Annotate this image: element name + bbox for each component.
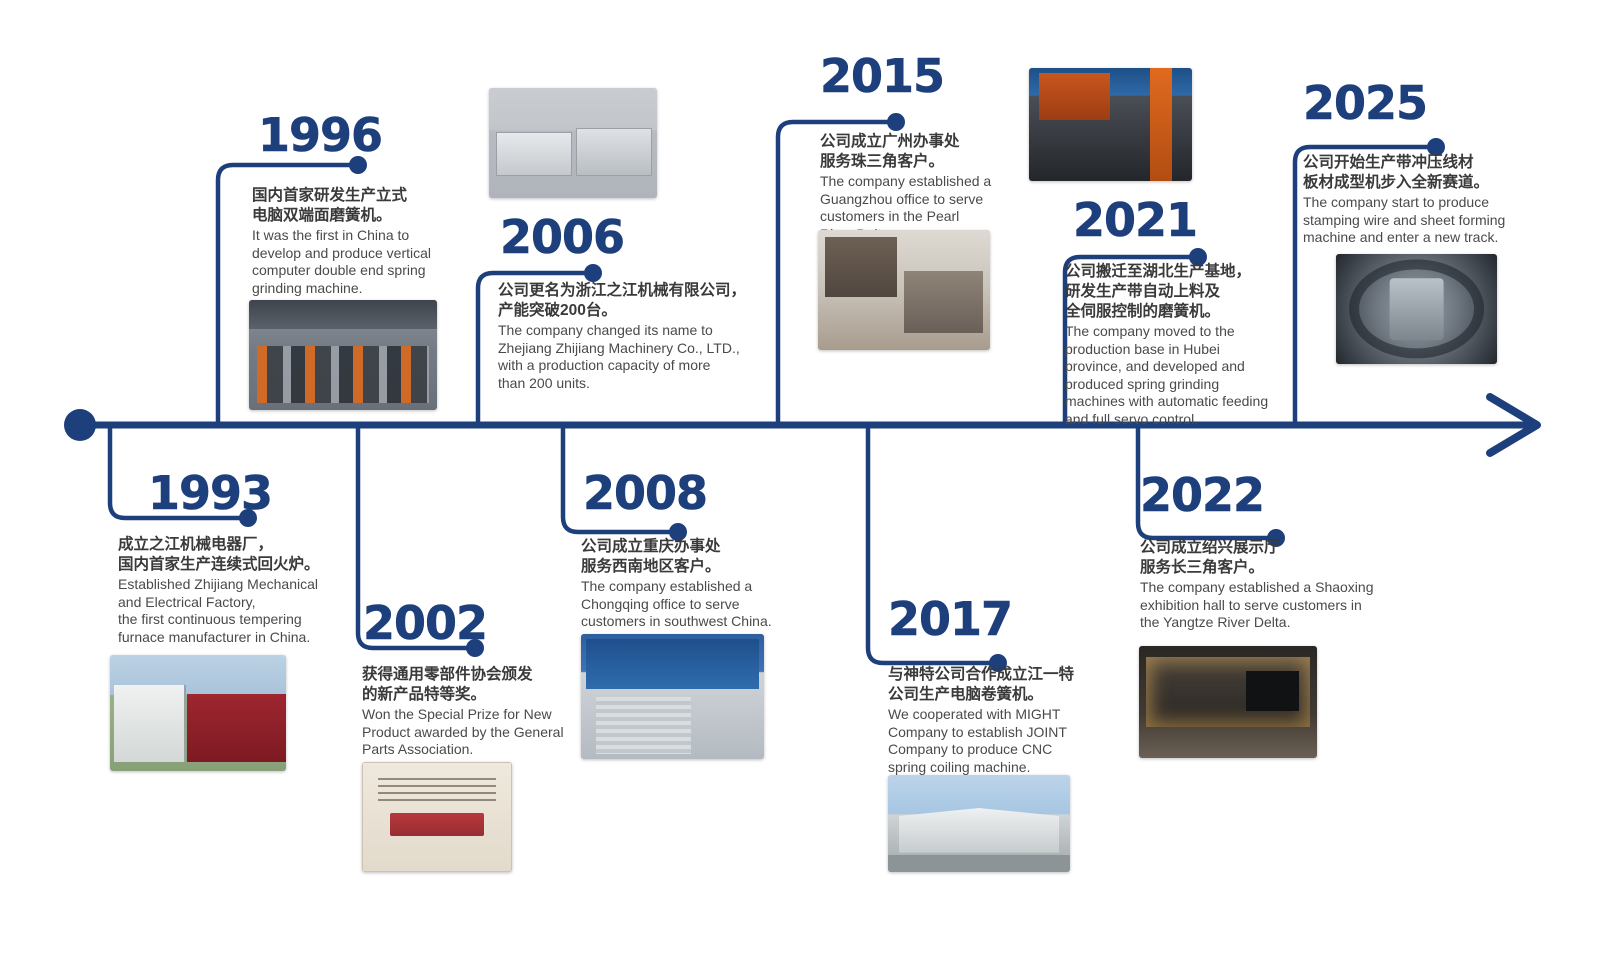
milestone-2015[interactable]: 2015 xyxy=(820,53,1035,99)
milestone-1993-text: 成立之江机械电器厂， 国内首家生产连续式回火炉。 Established Zhi… xyxy=(118,535,350,646)
cnc-forming-machine-head-photo xyxy=(1336,254,1497,364)
milestone-cn-2017: 与神特公司合作成立江一特 公司生产电脑卷簧机。 xyxy=(888,665,1093,705)
node-dot-2006 xyxy=(584,264,602,282)
milestone-2002[interactable]: 2002 xyxy=(363,600,578,646)
milestone-2008-text: 公司成立重庆办事处 服务西南地区客户。 The company establis… xyxy=(581,537,813,631)
milestone-en-2021: The company moved to the production base… xyxy=(1065,323,1283,428)
year-label-2021: 2021 xyxy=(1073,197,1288,243)
old-factory-gate-photo xyxy=(110,655,286,771)
milestone-cn-2022: 公司成立绍兴展示厅 服务长三角客户。 xyxy=(1140,538,1390,578)
year-label-2002: 2002 xyxy=(363,600,578,646)
milestone-2002-text: 获得通用零部件协会颁发 的新产品特等奖。 Won the Special Pri… xyxy=(362,665,584,759)
year-label-2015: 2015 xyxy=(820,53,1035,99)
milestone-2015-text: 公司成立广州办事处 服务珠三角客户。 The company establish… xyxy=(820,132,1025,243)
joint-company-plant-photo xyxy=(888,775,1070,872)
milestone-cn-2025: 公司开始生产带冲压线材 板材成型机步入全新赛道。 xyxy=(1303,153,1528,193)
milestone-2021[interactable]: 2021 xyxy=(1073,197,1288,243)
milestone-2025-text: 公司开始生产带冲压线材 板材成型机步入全新赛道。 The company sta… xyxy=(1303,153,1528,247)
milestone-en-1996: It was the first in China to develop and… xyxy=(252,227,462,297)
milestone-2017[interactable]: 2017 xyxy=(888,596,1103,642)
milestone-2021-text: 公司搬迁至湖北生产基地， 研发生产带自动上料及 全伺服控制的磨簧机。 The c… xyxy=(1065,262,1283,428)
chongqing-storefront-photo xyxy=(581,634,764,759)
milestone-1993[interactable]: 1993 xyxy=(148,470,363,516)
factory-aerial-view-photo xyxy=(489,88,657,198)
year-label-2008: 2008 xyxy=(583,470,798,516)
milestone-2025[interactable]: 2025 xyxy=(1303,80,1518,126)
milestone-1996[interactable]: 1996 xyxy=(258,112,473,158)
year-label-2006: 2006 xyxy=(500,214,715,260)
shaoxing-exhibition-hall-photo xyxy=(1139,646,1317,758)
milestone-2006-text: 公司更名为浙江之江机械有限公司， 产能突破200台。 The company c… xyxy=(498,281,746,392)
milestone-en-2002: Won the Special Prize for New Product aw… xyxy=(362,706,584,759)
milestone-en-2017: We cooperated with MIGHT Company to esta… xyxy=(888,706,1093,776)
milestone-cn-2002: 获得通用零部件协会颁发 的新产品特等奖。 xyxy=(362,665,584,705)
milestone-en-2006: The company changed its name to Zhejiang… xyxy=(498,322,746,392)
year-label-2025: 2025 xyxy=(1303,80,1518,126)
milestone-cn-2015: 公司成立广州办事处 服务珠三角客户。 xyxy=(820,132,1025,172)
milestone-2017-text: 与神特公司合作成立江一特 公司生产电脑卷簧机。 We cooperated wi… xyxy=(888,665,1093,776)
year-label-2022: 2022 xyxy=(1140,472,1355,518)
spring-grinding-workshop-photo xyxy=(249,300,437,410)
milestone-2008[interactable]: 2008 xyxy=(583,470,798,516)
milestone-2022[interactable]: 2022 xyxy=(1140,472,1355,518)
milestone-en-1993: Established Zhijiang Mechanical and Elec… xyxy=(118,576,350,646)
milestone-1996-text: 国内首家研发生产立式 电脑双端面磨簧机。 It was the first in… xyxy=(252,186,462,297)
milestone-cn-2006: 公司更名为浙江之江机械有限公司， 产能突破200台。 xyxy=(498,281,746,321)
timeline-infographic: 1993 成立之江机械电器厂， 国内首家生产连续式回火炉。 Establishe… xyxy=(0,0,1600,959)
milestone-en-2022: The company established a Shaoxing exhib… xyxy=(1140,579,1390,632)
milestone-cn-2008: 公司成立重庆办事处 服务西南地区客户。 xyxy=(581,537,813,577)
node-dot-2015 xyxy=(887,113,905,131)
year-label-1993: 1993 xyxy=(148,470,363,516)
special-prize-certificate-photo xyxy=(362,762,512,872)
milestone-2006[interactable]: 2006 xyxy=(500,214,715,260)
guangzhou-office-interior-photo xyxy=(818,230,990,350)
timeline-arrow-head xyxy=(1490,397,1537,453)
milestone-2022-text: 公司成立绍兴展示厅 服务长三角客户。 The company establish… xyxy=(1140,538,1390,632)
timeline-start-dot xyxy=(64,409,96,441)
milestone-cn-1996: 国内首家研发生产立式 电脑双端面磨簧机。 xyxy=(252,186,462,226)
milestone-cn-1993: 成立之江机械电器厂， 国内首家生产连续式回火炉。 xyxy=(118,535,350,575)
automatic-feeding-robot-photo xyxy=(1029,68,1192,181)
year-label-1996: 1996 xyxy=(258,112,473,158)
milestone-cn-2021: 公司搬迁至湖北生产基地， 研发生产带自动上料及 全伺服控制的磨簧机。 xyxy=(1065,262,1283,322)
milestone-en-2008: The company established a Chongqing offi… xyxy=(581,578,813,631)
year-label-2017: 2017 xyxy=(888,596,1103,642)
milestone-en-2025: The company start to produce stamping wi… xyxy=(1303,194,1528,247)
